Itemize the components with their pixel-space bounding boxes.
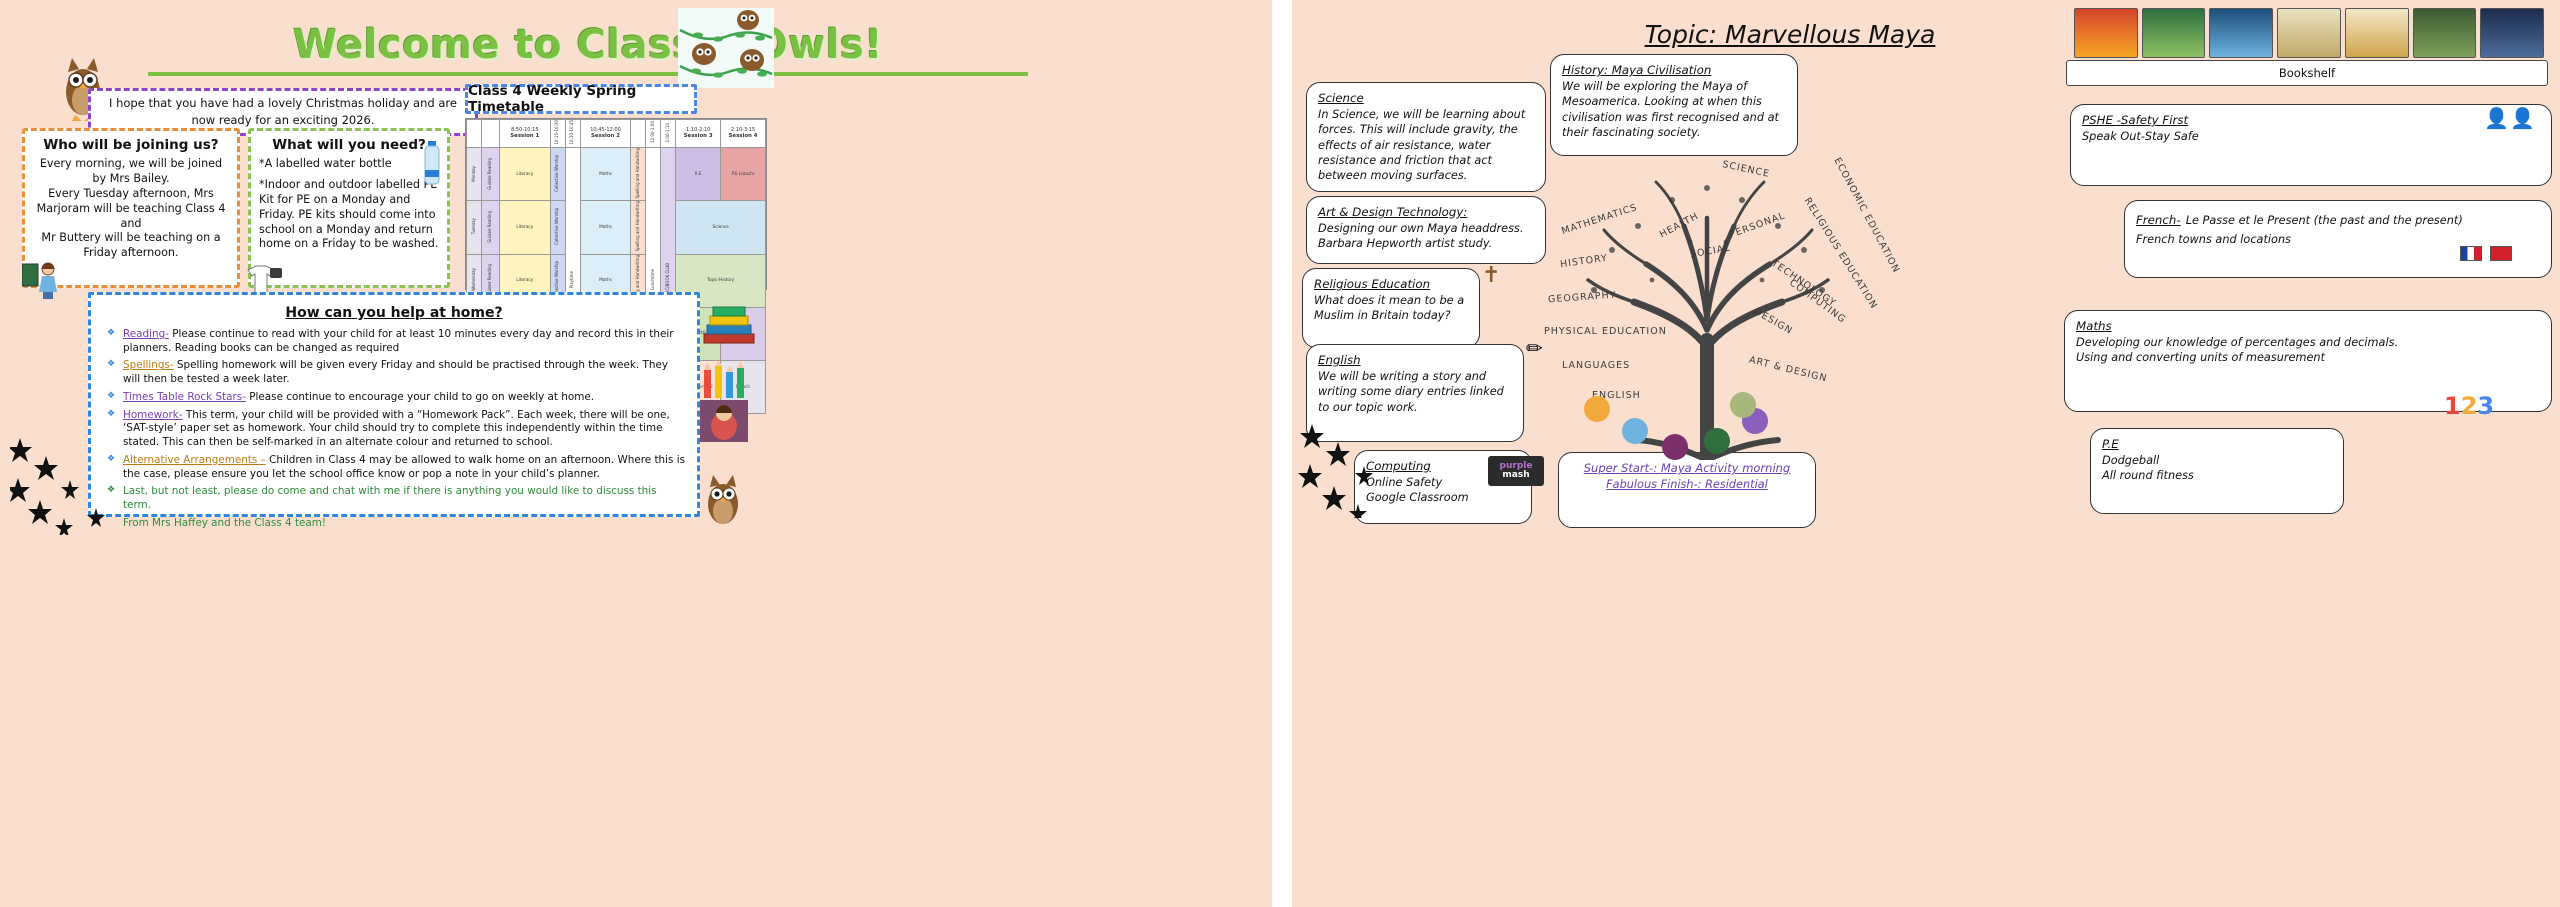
bullet-icon: ❖ (107, 328, 115, 340)
subject-body: Speak Out-Stay Safe (2082, 129, 2540, 144)
worship-cell: Collective Worship (550, 201, 565, 254)
book-cover (2413, 8, 2477, 58)
page-right: Topic: Marvellous Maya Bookshelf Science… (1292, 0, 2560, 907)
badge-icon (1704, 428, 1730, 454)
badge-icon (1662, 434, 1688, 460)
book-cover (2142, 8, 2206, 58)
page-title: Welcome to Class 4 Owls! (148, 22, 1028, 76)
subject-body: In Science, we will be learning about fo… (1318, 107, 1534, 183)
help-item-spellings: ❖ Spellings- Spelling homework will be g… (101, 359, 687, 386)
subject-heading: French- (2136, 213, 2181, 227)
badge-icon (1584, 396, 1610, 422)
help-item-lead: Alternative Arrangements – (123, 454, 266, 466)
subject-heading: Art & Design Technology: (1318, 205, 1534, 219)
stars-decoration (1296, 418, 1406, 518)
help-item-reading: ❖ Reading- Please continue to read with … (101, 328, 687, 355)
fabulous-finish-line: Fabulous Finish-: Residential (1570, 477, 1804, 492)
what-need-heading: What will you need? (259, 137, 439, 153)
stars-decoration (10, 430, 130, 535)
subject-heading: PSHE -Safety First (2082, 113, 2540, 127)
subject-heading: Science (1318, 91, 1534, 105)
bullet-icon: ❖ (107, 359, 115, 371)
subject-box-art-dt: Art & Design Technology: Designing our o… (1306, 196, 1546, 264)
bullet-icon: ❖ (107, 391, 115, 403)
weekly-timetable: 8:50-10:15Session 1 10:15-10:30 10:30-10… (465, 118, 767, 290)
help-item-text: Spelling homework will be given every Fr… (123, 359, 668, 385)
purple-mash-word2: mash (1502, 471, 1529, 480)
flag-france-icon (2460, 246, 2482, 261)
super-start-box: Super Start-: Maya Activity morning Fabu… (1558, 452, 1816, 528)
table-row: Monday Guided Reading Literacy Collectiv… (467, 148, 766, 201)
col-session-1: 8:50-10:15Session 1 (499, 120, 550, 148)
guided-reading-cell: Guided Reading (481, 148, 499, 201)
help-item-text: Please continue to encourage your child … (246, 391, 594, 403)
timetable-title: Class 4 Weekly Spring Timetable (468, 83, 694, 115)
subject-body: Developing our knowledge of percentages … (2076, 335, 2540, 366)
spelling-cell: Spelling and Handwriting (631, 148, 646, 201)
water-bottle-icon (418, 140, 446, 186)
owl-banner-image (678, 8, 774, 88)
help-item-text: This term, your child will be provided w… (123, 409, 670, 448)
flag-red-icon (2490, 246, 2512, 261)
col-session-4: 2:10-3:15Session 4 (721, 120, 766, 148)
intro-text: I hope that you have had a lovely Christ… (99, 95, 467, 128)
subject-heading: English (1318, 353, 1512, 367)
bullet-icon: ❖ (107, 409, 115, 421)
cross-icon: ✝ (1482, 262, 1500, 288)
day-cell: Tuesday (467, 201, 482, 254)
purple-mash-logo: purple mash (1488, 456, 1544, 486)
col-session-2: 10:45-12:00Session 2 (580, 120, 631, 148)
number-123-icon: 123 (2444, 392, 2508, 426)
guided-reading-cell: Guided Reading (481, 201, 499, 254)
help-closing-1: ❖ Last, but not least, please do come an… (101, 485, 687, 512)
book-cover (2209, 8, 2273, 58)
session4-cell: P.E (coach) (721, 148, 766, 201)
subject-heading: History: Maya Civilisation (1562, 63, 1786, 77)
help-item-text: Please continue to read with your child … (123, 328, 674, 354)
book-cover (2480, 8, 2544, 58)
subject-body: Dodgeball All round fitness (2102, 453, 2332, 484)
book-cover (2277, 8, 2341, 58)
subject-body: What does it mean to be a Muslim in Brit… (1314, 293, 1468, 324)
col-lunch: 12:00-1:00 (646, 120, 661, 148)
session1-cell: Literacy (499, 201, 550, 254)
subject-box-french: French- Le Passe et le Present (the past… (2124, 200, 2552, 278)
super-start-line: Super Start-: Maya Activity morning (1570, 461, 1804, 475)
bookshelf-label: Bookshelf (2279, 66, 2335, 80)
help-item-homework: ❖ Homework- This term, your child will b… (101, 409, 687, 450)
help-item-lead: Homework- (123, 409, 183, 421)
page-divider (1272, 0, 1292, 907)
person-icon: 👤 (2484, 106, 2509, 131)
session3-4-cell: Science (676, 201, 766, 254)
col-worship: 10:15-10:30 (550, 120, 565, 148)
book-cover (2345, 8, 2409, 58)
owl-icon-bottom (700, 470, 746, 530)
help-title: How can you help at home? (101, 305, 687, 321)
who-joining-body: Every morning, we will be joined by Mrs … (33, 157, 229, 261)
books-icon (700, 292, 758, 352)
how-can-you-help-box: How can you help at home? ❖ Reading- Ple… (88, 292, 700, 517)
subject-heading: P.E (2102, 437, 2332, 451)
subject-body: We will be writing a story and writing s… (1318, 369, 1512, 415)
spelling-cell: Spelling and Handwriting (631, 201, 646, 254)
subject-body: Le Passe et le Present (the past and the… (2136, 214, 2463, 246)
newsletter-canvas: Welcome to Class 4 Owls! I hope that you… (0, 0, 2560, 907)
timetable-header-row: 8:50-10:15Session 1 10:15-10:30 10:30-10… (467, 120, 766, 148)
timetable-title-box: Class 4 Weekly Spring Timetable (465, 84, 697, 114)
page-left: Welcome to Class 4 Owls! I hope that you… (0, 0, 1272, 907)
badge-icon (1622, 418, 1648, 444)
subject-box-science: Science In Science, we will be learning … (1306, 82, 1546, 192)
col-spelling (631, 120, 646, 148)
session1-cell: Literacy (499, 148, 550, 201)
who-joining-heading: Who will be joining us? (33, 137, 229, 153)
col-playtime: 10:30-10:45 (565, 120, 580, 148)
book-covers-strip (2074, 8, 2544, 58)
bookshelf-label-box: Bookshelf (2066, 60, 2548, 86)
character-picture (700, 400, 748, 442)
what-need-line1: *A labelled water bottle (259, 157, 439, 172)
worship-cell: Collective Worship (550, 148, 565, 201)
what-need-line2: *Indoor and outdoor labelled PE Kit for … (259, 178, 439, 252)
help-item-lead: Reading- (123, 328, 169, 340)
subject-box-pshe: PSHE -Safety First Speak Out-Stay Safe (2070, 104, 2552, 186)
table-row: Tuesday Guided Reading Literacy Collecti… (467, 201, 766, 254)
subject-body: Designing our own Maya headdress. Barbar… (1318, 221, 1534, 252)
pencils-icon (700, 360, 752, 402)
subject-heading: Religious Education (1314, 277, 1468, 291)
person-icon: 👤 (2510, 106, 2535, 131)
help-item-ttrs: ❖ Times Table Rock Stars- Please continu… (101, 391, 687, 405)
help-item-alternative: ❖ Alternative Arrangements – Children in… (101, 454, 687, 481)
day-cell: Monday (467, 148, 482, 201)
badge-icon (1730, 392, 1756, 418)
teacher-icon (22, 258, 64, 300)
subject-box-re: Religious Education What does it mean to… (1302, 268, 1480, 348)
help-item-lead: Spellings- (123, 359, 174, 371)
subject-heading: Maths (2076, 319, 2540, 333)
pencil-icon: ✏ (1526, 336, 1543, 361)
col-guided-reading (481, 120, 499, 148)
subject-box-pe: P.E Dodgeball All round fitness (2090, 428, 2344, 514)
help-item-lead: Times Table Rock Stars- (123, 391, 246, 403)
topic-title: Topic: Marvellous Maya (1550, 20, 2030, 49)
col-book-club: 1:00-1:10 (661, 120, 676, 148)
session2-cell: Maths (580, 148, 631, 201)
book-cover (2074, 8, 2138, 58)
session3-cell: R.E (676, 148, 721, 201)
session2-cell: Maths (580, 201, 631, 254)
col-session-3: 1:10-2:10Session 3 (676, 120, 721, 148)
help-closing-2: From Mrs Haffey and the Class 4 team! (101, 517, 687, 531)
